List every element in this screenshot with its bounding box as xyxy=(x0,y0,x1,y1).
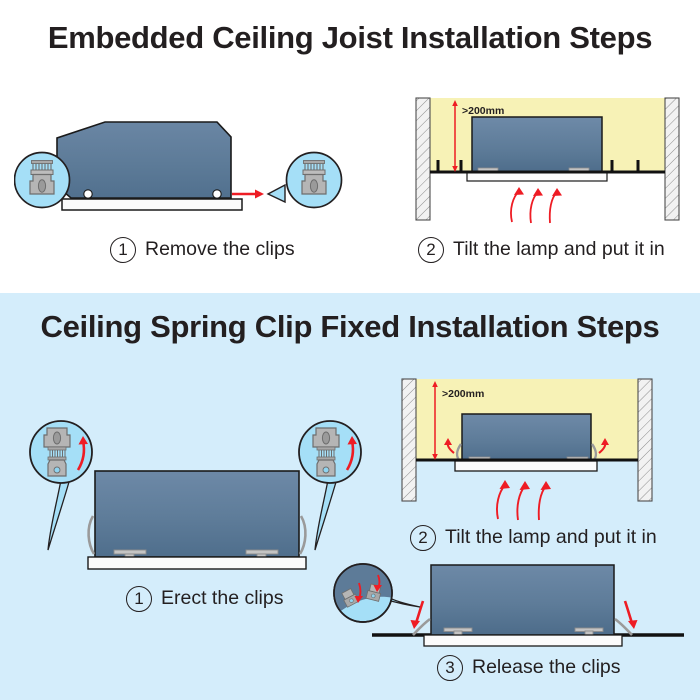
step-number-badge: 2 xyxy=(410,525,436,551)
lamp-body xyxy=(472,117,602,172)
caption-step-2-embedded: 2 Tilt the lamp and put it in xyxy=(418,237,665,263)
airflow-arrow-icon xyxy=(497,480,551,520)
callout-tail xyxy=(315,480,336,550)
figure-release-the-clips xyxy=(328,555,690,667)
lamp-body xyxy=(462,414,591,461)
base-plate xyxy=(62,199,242,210)
figure-remove-the-clips xyxy=(14,110,374,235)
screw-hole-right xyxy=(213,190,221,198)
base-plate xyxy=(424,635,622,646)
callout-clip-right xyxy=(268,153,342,208)
arrow-down-right-icon xyxy=(625,601,638,629)
callout-clip-detail xyxy=(328,560,420,623)
callout-clip-right xyxy=(299,421,361,550)
step-number-badge: 1 xyxy=(110,237,136,263)
caption-step-1-embedded: 1 Remove the clips xyxy=(110,237,295,263)
callout-tail xyxy=(48,480,69,550)
lamp-body xyxy=(95,471,299,557)
callout-clip-left xyxy=(30,421,92,550)
airflow-arrow-icon xyxy=(511,187,562,223)
installation-steps-infographic: Embedded Ceiling Joist Installation Step… xyxy=(0,0,700,700)
section-ceiling-spring-clip-fixed: Ceiling Spring Clip Fixed Installation S… xyxy=(0,293,700,700)
step-number-badge: 2 xyxy=(418,237,444,263)
section-title-embedded: Embedded Ceiling Joist Installation Step… xyxy=(0,20,700,56)
arrow-right-icon xyxy=(232,190,264,199)
base-plate xyxy=(455,461,597,471)
base-plate xyxy=(88,557,306,569)
section-embedded-ceiling-joist: Embedded Ceiling Joist Installation Step… xyxy=(0,0,700,293)
dimension-label: >200mm xyxy=(442,388,484,400)
caption-step-3-springclip: 3 Release the clips xyxy=(437,655,621,681)
step-number-badge: 3 xyxy=(437,655,463,681)
step-label: Remove the clips xyxy=(145,240,295,260)
section-title-springclip: Ceiling Spring Clip Fixed Installation S… xyxy=(0,309,700,345)
lamp-body xyxy=(431,565,614,635)
step-label: Tilt the lamp and put it in xyxy=(445,528,657,548)
step-label: Tilt the lamp and put it in xyxy=(453,240,665,260)
wall-left xyxy=(402,379,416,501)
callout-clip-left xyxy=(15,153,70,208)
step-label: Erect the clips xyxy=(161,589,283,609)
lamp-body xyxy=(57,122,231,198)
screw-hole-left xyxy=(84,190,92,198)
wall-right xyxy=(665,98,679,220)
step-number-badge: 1 xyxy=(126,586,152,612)
caption-step-1-springclip: 1 Erect the clips xyxy=(126,586,283,612)
caption-step-2-springclip: 2 Tilt the lamp and put it in xyxy=(410,525,657,551)
spring-clip-left xyxy=(89,516,94,554)
dimension-label: >200mm xyxy=(462,105,504,117)
wall-right xyxy=(638,379,652,501)
step-label: Release the clips xyxy=(472,658,621,678)
figure-tilt-the-lamp-springclip: >200mm xyxy=(392,371,690,526)
figure-tilt-the-lamp-embedded: >200mm xyxy=(405,92,690,232)
spring-clip-right xyxy=(300,516,305,554)
wall-left xyxy=(416,98,430,220)
